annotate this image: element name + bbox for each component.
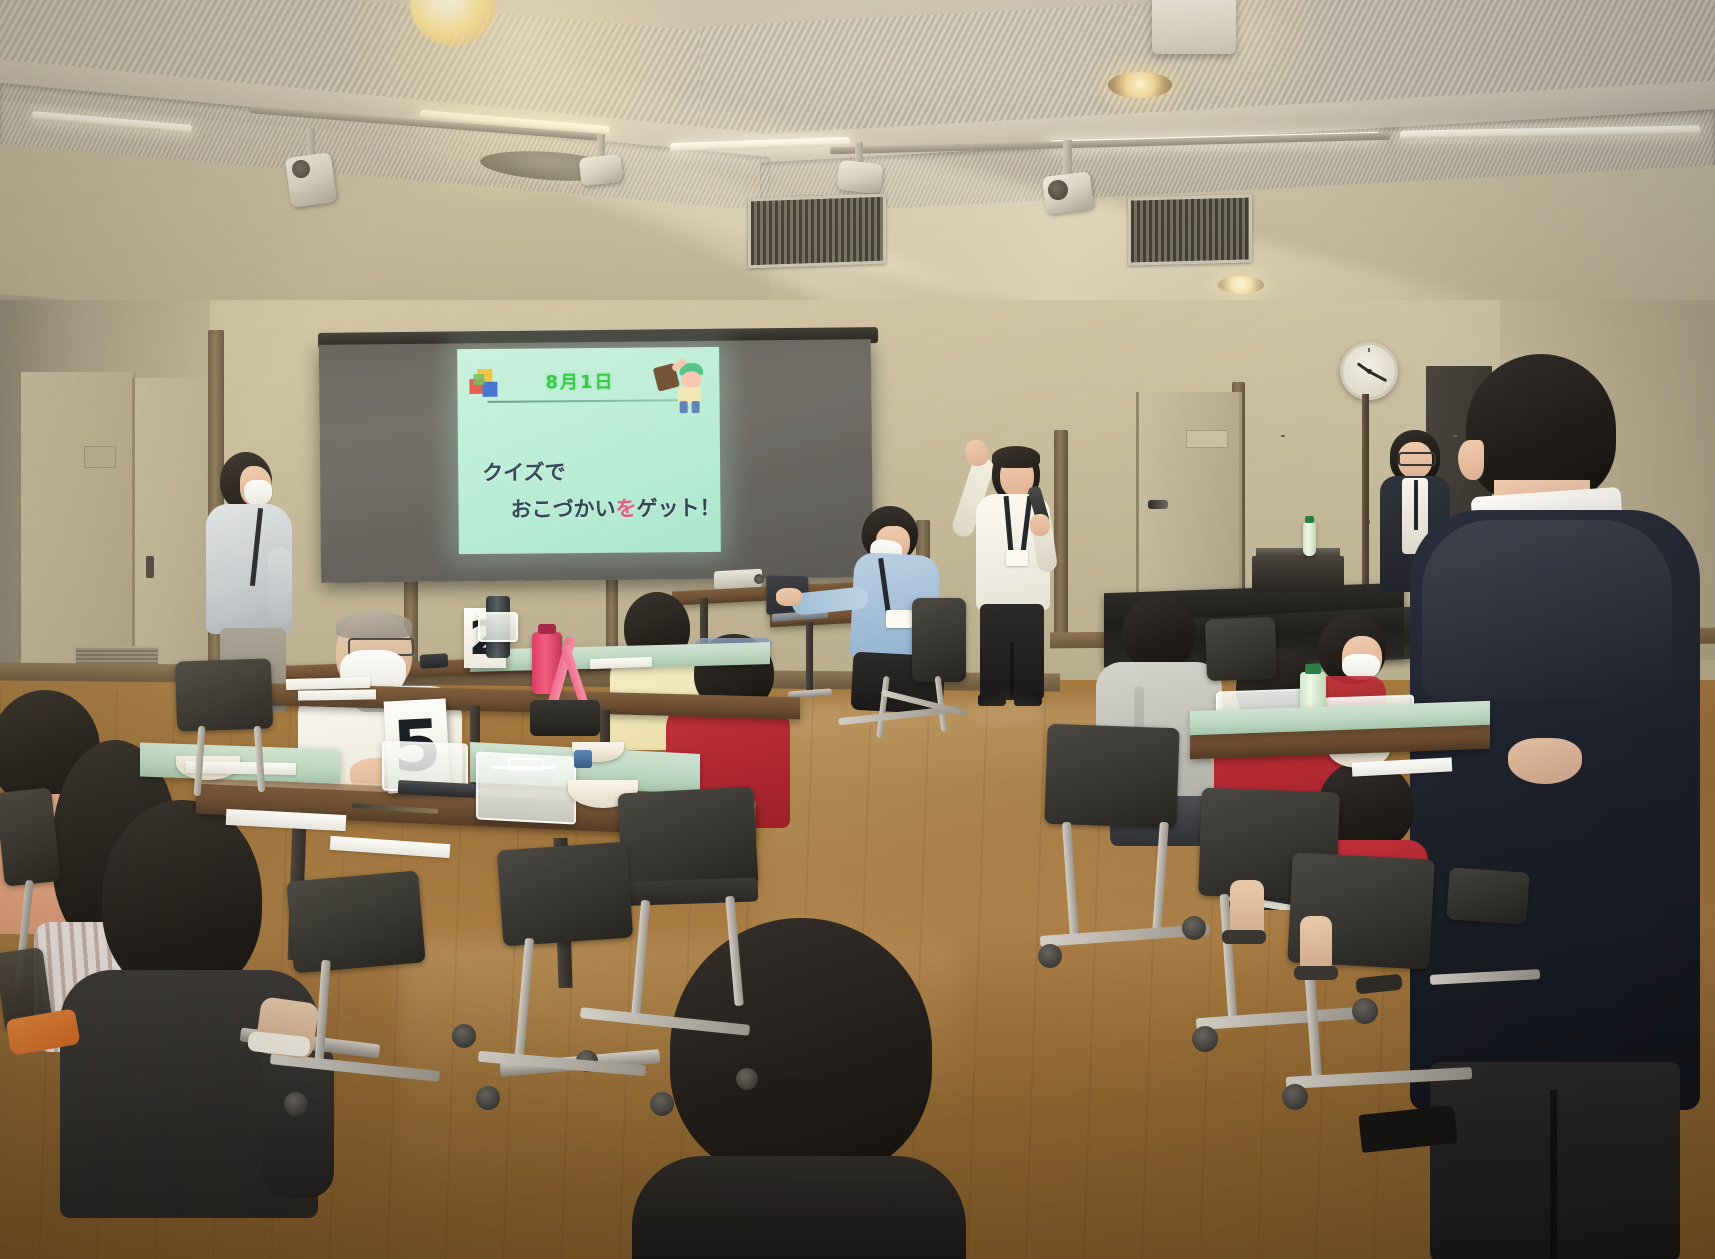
chair-caster-8 [1182,916,1206,940]
clear-box-back [478,612,518,642]
chair-foreground-1[interactable] [175,658,273,731]
presenter-mic-hand [1030,514,1050,536]
presenter-shoe-right [1014,694,1042,706]
slide-line-2: おこづかいをゲット！ [510,492,720,524]
chair-caster-7 [1038,944,1062,968]
green-tea-bottle-cap [1305,664,1321,674]
paper-stack-back-1 [286,677,370,690]
door-handle-left[interactable] [146,556,154,578]
presenter-name-badge [1006,550,1028,566]
laptop-staff-badge [886,610,912,628]
foreground-head-hair [670,918,932,1180]
projector-lens-icon [754,574,764,584]
chair-caster-4 [650,1092,674,1116]
foreground-attendee-back-of-head [650,918,950,1259]
presenter-trouser-split [1010,642,1014,700]
attendee-dark-hair [102,800,262,996]
laptop-staff-hand [776,588,802,606]
mascot-legs-icon-2 [692,401,700,413]
hvac-vent-right [1128,194,1252,265]
pinwheel-logo [469,369,499,399]
chair-caster-9 [1192,1026,1218,1052]
chair-caster-10 [1352,998,1378,1024]
bottle-cap-shelf [1305,516,1314,523]
chair-caster-6 [452,1024,476,1048]
child-sandal-right-2 [1294,966,1338,980]
chair-caster-5 [284,1092,308,1116]
chair-right-5[interactable] [1446,867,1529,924]
black-case-under-table [530,700,600,736]
door-handle-center[interactable] [1148,500,1168,509]
staff-left-face-mask [244,480,272,506]
downlight-1 [1108,72,1172,98]
green-tea-bottle-shelf [1303,522,1316,556]
door-sign-center [1186,430,1228,448]
chair-caster-11 [1282,1084,1308,1110]
chair-foreground-4[interactable] [286,870,426,973]
staff-left-arm [268,548,292,626]
slide-line-2-part-a: おこづかい [510,497,615,522]
chair-caster-2 [736,1068,758,1090]
chair-right-1[interactable] [1044,724,1179,829]
projected-slide: 8月1日 クイズで おこづかいをゲット！ [457,347,721,554]
laptop-staff-chair-back[interactable] [912,598,966,682]
clock-center-pin [1367,369,1372,374]
cup-blue [574,750,592,768]
clear-box-1-handle [508,758,544,771]
suited-man-trouser-split [1550,1090,1557,1259]
chair-foreground-3[interactable] [497,842,633,947]
spotlight-lens-4 [1048,180,1068,200]
photo-scene: 8月1日 クイズで おこづかいをゲット！ [0,0,1715,1259]
spotlight-stem-4 [1063,140,1072,178]
av-rack-top [1256,548,1340,558]
av-equipment-cabinet [1252,556,1344,592]
paper-stack-back-2 [298,689,376,700]
chair-caster-3 [476,1086,500,1110]
door-sign-left [84,446,116,468]
phone-on-table [420,653,449,668]
spotlight-head-1 [285,152,338,208]
pink-bottle-cap [538,624,556,634]
suited-man-jacket-shoulder-light [1422,520,1672,700]
downlight-2 [1218,276,1264,294]
slide-date-text: 8月1日 [545,368,614,395]
spotlight-head-2 [579,154,624,186]
slide-line-2-accent: を [615,497,636,521]
chair-left-far[interactable] [0,787,61,886]
hvac-vent-left [748,194,886,269]
ceiling-can-light [1152,0,1236,54]
spotlight-head-3 [837,160,884,194]
slide-line-2-part-c: ゲット！ [636,496,720,521]
spotlight-lens-1 [292,160,310,178]
suited-man-hands [1508,738,1582,784]
child-sandal-right [1222,930,1266,944]
child-grey-hair [1122,596,1196,670]
chair-right-4[interactable] [1205,617,1277,681]
suited-man-ear [1458,440,1484,480]
foreground-head-shoulders [632,1156,966,1259]
slide-mascot-icon [653,359,709,415]
laptop-table-leg [806,622,813,694]
mascot-legs-icon [680,401,688,413]
slide-line-1: クイズで [482,456,566,487]
elderly-man-hair [336,612,412,638]
presenter-shoe-left [978,694,1006,706]
presenter-hair-front [992,446,1040,468]
